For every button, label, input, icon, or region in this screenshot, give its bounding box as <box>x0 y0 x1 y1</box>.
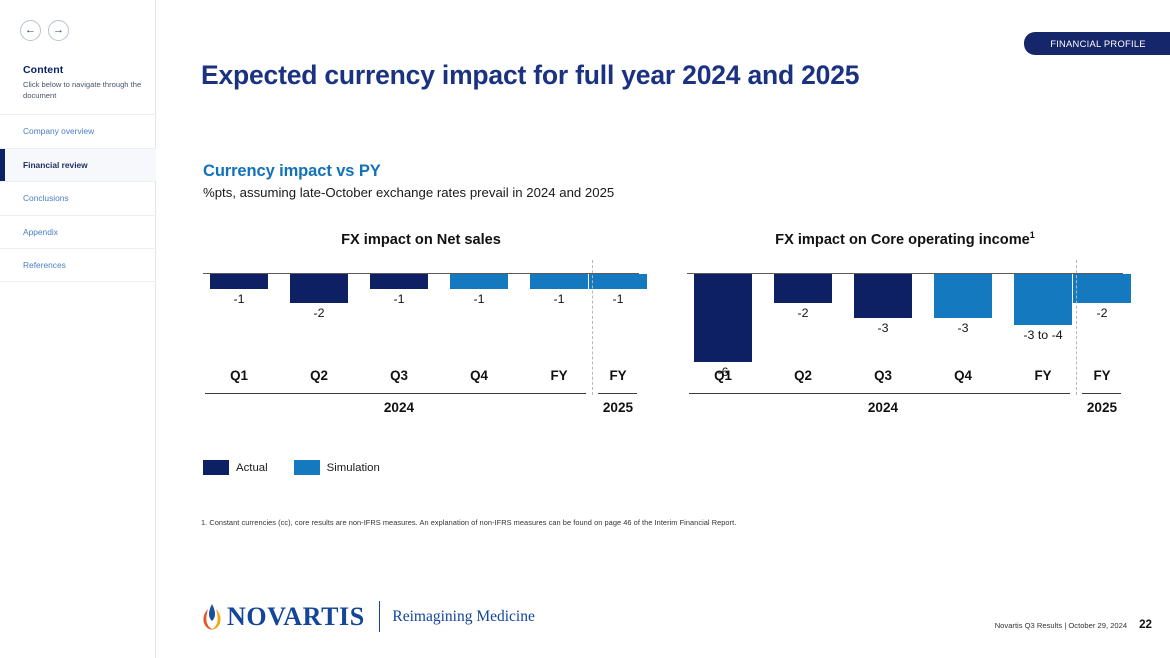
bar-q1-0: -6 <box>694 273 752 368</box>
bar-q1-0: -1 <box>210 273 268 368</box>
bar-value-label: -1 <box>393 292 404 306</box>
sidebar-nav-arrows: ← → <box>20 20 69 41</box>
status-badge-financial-profile: FINANCIAL PROFILE <box>1024 32 1170 55</box>
year-label: 2025 <box>578 400 658 415</box>
legend-label: Simulation <box>327 462 380 474</box>
sidebar-item-label: Appendix <box>23 227 58 237</box>
arrow-left-icon[interactable]: ← <box>20 20 41 41</box>
bar-value-label: -3 <box>877 321 888 335</box>
novartis-flame-icon <box>200 602 224 632</box>
sidebar-content-header: Content Click below to navigate through … <box>23 64 151 101</box>
bar-value-label: -2 <box>313 306 324 320</box>
bar-fy-5: -1 <box>589 273 647 368</box>
logo-divider <box>379 601 381 632</box>
legend-swatch-actual <box>203 460 229 475</box>
bar-rect <box>854 274 912 318</box>
bar-group: -6-2-3-3-3 to -4-2 <box>687 273 1123 368</box>
legend-swatch-simulation <box>294 460 320 475</box>
x-tick-label: Q4 <box>449 368 509 383</box>
sidebar-content-subtitle: Click below to navigate through the docu… <box>23 79 151 101</box>
legend-item-simulation: Simulation <box>294 460 380 475</box>
page-title: Expected currency impact for full year 2… <box>201 60 859 91</box>
sidebar-item-label: References <box>23 260 66 270</box>
x-tick-label: FY <box>1013 368 1073 383</box>
bar-rect <box>530 274 588 289</box>
sidebar-item-label: Company overview <box>23 126 94 136</box>
sidebar-item-appendix[interactable]: Appendix <box>0 215 156 249</box>
bar-rect <box>774 274 832 303</box>
bar-rect <box>1014 274 1072 325</box>
chart-core-operating-income: FX impact on Core operating income1 -6-2… <box>687 230 1123 425</box>
x-axis-line-left <box>689 393 1070 394</box>
plot-area: -1-2-1-1-1-1 <box>203 273 639 368</box>
year-label-row: 20242025 <box>203 400 639 422</box>
chart-title-text: FX impact on Core operating income <box>775 232 1030 248</box>
bar-rect <box>694 274 752 362</box>
bar-rect <box>370 274 428 289</box>
bar-rect <box>1073 274 1131 303</box>
brand-wordmark: NOVARTIS <box>227 602 365 632</box>
status-badge-label: FINANCIAL PROFILE <box>1050 38 1146 49</box>
plot-area: -6-2-3-3-3 to -4-2 <box>687 273 1123 368</box>
x-tick-label: FY <box>529 368 589 383</box>
x-tick-label: Q3 <box>853 368 913 383</box>
x-tick-row: Q1Q2Q3Q4FYFY <box>687 368 1123 394</box>
chart-legend: Actual Simulation <box>203 460 406 475</box>
bar-fy-4: -1 <box>530 273 588 368</box>
x-tick-label: Q1 <box>693 368 753 383</box>
bar-value-label: -2 <box>1096 306 1107 320</box>
x-tick-label: Q4 <box>933 368 993 383</box>
bar-rect <box>210 274 268 289</box>
chart-title-text: FX impact on Net sales <box>341 232 501 248</box>
bar-q2-1: -2 <box>774 273 832 368</box>
footer-meta-text: Novartis Q3 Results | October 29, 2024 <box>995 621 1127 630</box>
bar-rect <box>934 274 992 318</box>
x-tick-label: Q3 <box>369 368 429 383</box>
chart-net-sales: FX impact on Net sales -1-2-1-1-1-1 Q1Q2… <box>203 230 639 425</box>
year-label: 2025 <box>1062 400 1142 415</box>
brand-tagline: Reimagining Medicine <box>392 608 534 626</box>
bar-value-label: -2 <box>797 306 808 320</box>
x-tick-label: Q2 <box>289 368 349 383</box>
bar-value-label: -1 <box>233 292 244 306</box>
bar-rect <box>450 274 508 289</box>
x-tick-label: FY <box>588 368 648 383</box>
x-axis-line-right <box>598 393 637 394</box>
sidebar-content-title: Content <box>23 64 151 76</box>
footnote: 1. Constant currencies (cc), core result… <box>201 518 736 527</box>
sidebar-item-references[interactable]: References <box>0 248 156 282</box>
bar-group: -1-2-1-1-1-1 <box>203 273 639 368</box>
year-label: 2024 <box>359 400 439 415</box>
x-tick-label: Q1 <box>209 368 269 383</box>
legend-label: Actual <box>236 462 268 474</box>
bar-q4-3: -1 <box>450 273 508 368</box>
bar-rect <box>589 274 647 289</box>
chart-title-superscript: 1 <box>1030 230 1035 240</box>
bar-q2-1: -2 <box>290 273 348 368</box>
page-number: 22 <box>1139 618 1152 631</box>
bar-q3-2: -3 <box>854 273 912 368</box>
sidebar: ← → Content Click below to navigate thro… <box>0 0 156 658</box>
x-axis-line-left <box>205 393 586 394</box>
chart-title: FX impact on Core operating income1 <box>687 230 1123 248</box>
bar-q4-3: -3 <box>934 273 992 368</box>
sidebar-item-financial-review[interactable]: Financial review <box>0 148 156 182</box>
sidebar-nav-list: Company overview Financial review Conclu… <box>0 114 156 282</box>
x-axis-line-right <box>1082 393 1121 394</box>
section-subtitle: %pts, assuming late-October exchange rat… <box>203 185 614 200</box>
year-label-row: 20242025 <box>687 400 1123 422</box>
bar-fy-5: -2 <box>1073 273 1131 368</box>
sidebar-item-label: Financial review <box>23 160 88 170</box>
arrow-right-icon[interactable]: → <box>48 20 69 41</box>
x-tick-label: FY <box>1072 368 1132 383</box>
legend-item-actual: Actual <box>203 460 268 475</box>
bar-fy-4: -3 to -4 <box>1014 273 1072 368</box>
section-title: Currency impact vs PY <box>203 162 381 181</box>
bar-q3-2: -1 <box>370 273 428 368</box>
brand-logo: NOVARTIS Reimagining Medicine <box>200 601 535 632</box>
chart-title: FX impact on Net sales <box>203 230 639 248</box>
bar-value-label: -3 <box>957 321 968 335</box>
year-label: 2024 <box>843 400 923 415</box>
bar-value-label: -1 <box>553 292 564 306</box>
sidebar-item-company-overview[interactable]: Company overview <box>0 114 156 148</box>
x-tick-row: Q1Q2Q3Q4FYFY <box>203 368 639 394</box>
bar-value-label: -3 to -4 <box>1023 328 1062 342</box>
slide-root: ← → Content Click below to navigate thro… <box>0 0 1170 658</box>
sidebar-item-label: Conclusions <box>23 193 69 203</box>
footer-meta: Novartis Q3 Results | October 29, 2024 2… <box>995 618 1152 631</box>
x-tick-label: Q2 <box>773 368 833 383</box>
bar-rect <box>290 274 348 303</box>
bar-value-label: -1 <box>473 292 484 306</box>
bar-value-label: -1 <box>612 292 623 306</box>
sidebar-item-conclusions[interactable]: Conclusions <box>0 181 156 215</box>
